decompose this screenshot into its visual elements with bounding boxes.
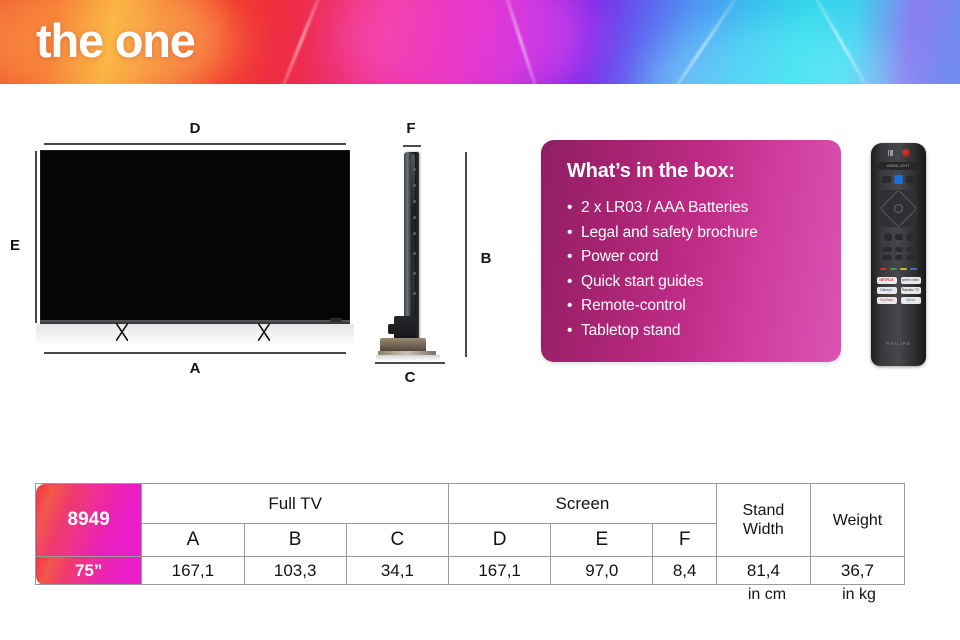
remote-back-icon xyxy=(884,233,892,241)
tv-surface-reflection xyxy=(36,324,354,346)
tv-side-stand-base xyxy=(380,338,426,352)
tv-side-port-3 xyxy=(413,200,416,203)
tv-side-panel-edge xyxy=(411,154,415,340)
remote-app-row-3: YouTube Alexa xyxy=(871,297,926,304)
whats-in-the-box-panel: What’s in the box: 2 x LR03 / AAA Batter… xyxy=(541,140,841,362)
specification-table: 8949 Full TV Screen Stand Width Weight A… xyxy=(35,483,905,585)
header-weight: Weight xyxy=(810,484,904,557)
remote-power-button xyxy=(902,149,910,157)
tv-stand-foot-right xyxy=(258,323,270,341)
box-contents-list: 2 x LR03 / AAA Batteries Legal and safet… xyxy=(567,196,819,343)
remote-assistant-icon xyxy=(894,175,903,184)
remote-app-row-1: NETFLIX prime video xyxy=(871,277,926,284)
remote-rewind-button xyxy=(882,255,892,260)
remote-yellow-button xyxy=(900,268,907,270)
tv-front-view-diagram: D E A xyxy=(0,110,390,390)
model-badge: 8949 xyxy=(36,484,142,557)
remote-home-icon xyxy=(906,233,914,241)
group-header-full-tv: Full TV xyxy=(142,484,449,524)
tv-side-connector xyxy=(388,324,402,334)
dimension-line-f xyxy=(403,145,421,147)
banner-glow-b xyxy=(330,0,590,84)
remote-app-row-2: Disney+ Rakuten TV xyxy=(871,287,926,294)
list-item: Tabletop stand xyxy=(567,319,819,344)
remote-netflix-button: NETFLIX xyxy=(877,277,897,284)
dimension-line-d xyxy=(44,143,346,145)
value-stand-width: 81,4 xyxy=(716,557,810,585)
dimension-label-c: C xyxy=(396,369,424,387)
remote-mute-button xyxy=(895,247,903,252)
dimension-label-d: D xyxy=(155,120,235,138)
dimension-label-b: B xyxy=(472,250,500,268)
remote-playback-row xyxy=(871,255,926,260)
tv-side-stand-shadow xyxy=(376,355,440,361)
remote-volume-channel-row xyxy=(871,247,926,252)
letter-header-d: D xyxy=(449,524,551,557)
remote-forward-button xyxy=(906,255,916,260)
remote-signal-icon xyxy=(888,150,893,156)
dimension-line-c xyxy=(375,362,445,364)
remote-red-button xyxy=(880,268,887,270)
list-item: Power cord xyxy=(567,245,819,270)
remote-youtube-button: YouTube xyxy=(877,297,897,304)
letter-header-e: E xyxy=(551,524,653,557)
list-item: Quick start guides xyxy=(567,270,819,295)
unit-stand-width: in cm xyxy=(721,586,813,604)
dimension-line-b xyxy=(465,152,467,357)
remote-source-icon xyxy=(882,176,891,183)
letter-header-f: F xyxy=(653,524,716,557)
tv-side-port-8 xyxy=(413,292,416,295)
remote-rakuten-button: Rakuten TV xyxy=(901,287,921,294)
remote-ambilight-button: AMBILIGHT xyxy=(878,162,919,170)
table-row-values: 75” 167,1 103,3 34,1 167,1 97,0 8,4 81,4… xyxy=(36,557,905,585)
remote-color-row xyxy=(871,268,926,270)
value-b: 103,3 xyxy=(244,557,346,585)
table-row-group-headers: 8949 Full TV Screen Stand Width Weight xyxy=(36,484,905,524)
tv-logo-nub xyxy=(330,318,342,322)
remote-channel-button xyxy=(906,247,916,252)
tv-side-port-5 xyxy=(413,232,416,235)
box-panel-title: What’s in the box: xyxy=(567,160,819,183)
banner-ray-1 xyxy=(272,0,330,84)
value-weight: 36,7 xyxy=(810,557,904,585)
letter-header-b: B xyxy=(244,524,346,557)
letter-header-a: A xyxy=(142,524,244,557)
dimension-label-e: E xyxy=(2,237,28,255)
header-stand-width-line1: Stand xyxy=(742,502,784,519)
tv-screen xyxy=(40,150,350,322)
tv-side-port-2 xyxy=(413,184,416,187)
value-c: 34,1 xyxy=(346,557,448,585)
list-item: Remote-control xyxy=(567,294,819,319)
remote-source-row xyxy=(871,175,926,184)
remote-nav-row xyxy=(871,233,926,241)
banner-title: the one xyxy=(36,8,195,74)
tv-side-view-diagram: F B C xyxy=(370,110,510,390)
remote-menu-icon xyxy=(895,234,903,240)
remote-ok-button xyxy=(894,204,903,213)
remote-blue-button xyxy=(910,268,917,270)
hero-banner: the one xyxy=(0,0,960,84)
remote-brand-label: PHILIPS xyxy=(871,341,926,346)
tv-side-port-6 xyxy=(413,252,416,255)
remote-volume-button xyxy=(882,247,892,252)
remote-disney-button: Disney+ xyxy=(877,287,897,294)
tv-stand-foot-left xyxy=(116,323,128,341)
value-d: 167,1 xyxy=(449,557,551,585)
dimension-line-e xyxy=(35,151,37,323)
letter-header-c: C xyxy=(346,524,448,557)
list-item: Legal and safety brochure xyxy=(567,221,819,246)
remote-play-button xyxy=(895,255,903,260)
table-units-row: in cm in kg xyxy=(35,583,905,607)
value-a: 167,1 xyxy=(142,557,244,585)
remote-alexa-button: Alexa xyxy=(901,297,921,304)
dimension-label-f: F xyxy=(397,120,425,138)
group-header-screen: Screen xyxy=(449,484,717,524)
remote-prime-video-button: prime video xyxy=(901,277,921,284)
unit-weight: in kg xyxy=(813,586,905,604)
list-item: 2 x LR03 / AAA Batteries xyxy=(567,196,819,221)
header-stand-width-line2: Width xyxy=(743,521,784,538)
tv-side-port-1 xyxy=(413,168,416,171)
remote-green-button xyxy=(890,268,897,270)
dimension-label-a: A xyxy=(155,360,235,378)
value-e: 97,0 xyxy=(551,557,653,585)
tv-side-port-7 xyxy=(413,272,416,275)
value-f: 8,4 xyxy=(653,557,716,585)
tv-side-port-4 xyxy=(413,216,416,219)
dimensions-table: 8949 Full TV Screen Stand Width Weight A… xyxy=(35,483,905,585)
dimension-line-a xyxy=(44,352,346,354)
remote-settings-icon xyxy=(906,176,915,183)
header-stand-width: Stand Width xyxy=(716,484,810,557)
size-badge: 75” xyxy=(36,557,142,585)
philips-remote-control: AMBILIGHT NETFLIX prime video Disney+ Ra… xyxy=(871,143,926,366)
